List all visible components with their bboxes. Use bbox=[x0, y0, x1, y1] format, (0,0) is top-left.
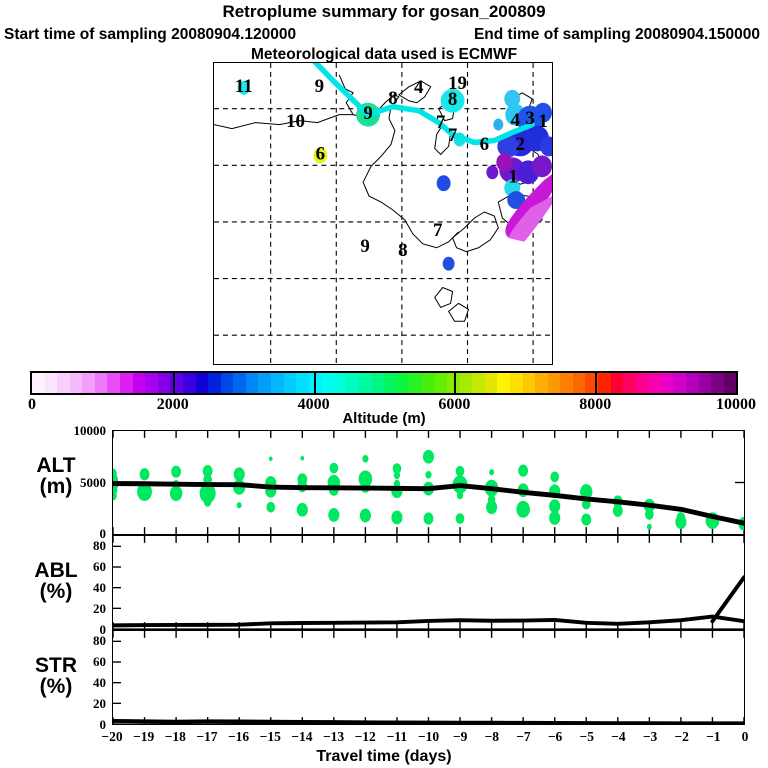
xtick-−19: −19 bbox=[133, 729, 154, 745]
particle-dot bbox=[425, 471, 431, 479]
colorbar-swatch-19 bbox=[271, 373, 284, 393]
svg-text:8: 8 bbox=[388, 88, 397, 109]
particle-dot bbox=[424, 512, 434, 524]
retroplume-map[interactable]: 11 9 10 9 8 4 19 8 6 7 7 6 4 3 1 2 1 9 8… bbox=[213, 62, 553, 365]
colorbar-swatch-4 bbox=[82, 373, 95, 393]
page-title: Retroplume summary for gosan_200809 bbox=[0, 2, 768, 22]
colorbar-swatch-31 bbox=[422, 373, 435, 393]
svg-text:8: 8 bbox=[398, 240, 407, 261]
particle-dot bbox=[391, 511, 402, 525]
svg-text:3: 3 bbox=[525, 108, 534, 129]
xtick-−10: −10 bbox=[418, 729, 439, 745]
str-ytick-20: 20 bbox=[46, 696, 106, 712]
svg-text:9: 9 bbox=[360, 236, 369, 257]
particle-dot bbox=[456, 466, 465, 477]
colorbar-swatch-1 bbox=[45, 373, 58, 393]
colorbar-swatch-49 bbox=[648, 373, 661, 393]
colorbar-swatch-23 bbox=[321, 373, 334, 393]
colorbar-swatch-36 bbox=[485, 373, 498, 393]
particle-dot bbox=[675, 515, 686, 529]
particle-dot bbox=[456, 513, 465, 524]
svg-text:11: 11 bbox=[235, 76, 253, 97]
colorbar-swatch-0 bbox=[32, 373, 45, 393]
colorbar-swatch-26 bbox=[359, 373, 372, 393]
start-time-label: Start time of sampling 20080904.120000 bbox=[4, 26, 296, 44]
particle-dot bbox=[204, 497, 211, 506]
colorbar-swatch-48 bbox=[636, 373, 649, 393]
colorbar-swatch-30 bbox=[409, 373, 422, 393]
xtick-−11: −11 bbox=[387, 729, 407, 745]
colorbar-swatch-42 bbox=[560, 373, 573, 393]
particle-dot bbox=[516, 501, 530, 518]
colorbar-swatch-41 bbox=[548, 373, 561, 393]
colorbar-swatch-53 bbox=[699, 373, 712, 393]
colorbar-swatch-38 bbox=[510, 373, 523, 393]
colorbar-swatch-55 bbox=[724, 373, 737, 393]
xtick-−15: −15 bbox=[260, 729, 281, 745]
colorbar-swatch-10 bbox=[158, 373, 171, 393]
colorbar-swatch-18 bbox=[258, 373, 271, 393]
str-plot bbox=[113, 631, 744, 724]
svg-text:6: 6 bbox=[480, 134, 489, 155]
alt-ytick-10000: 10000 bbox=[46, 423, 106, 439]
particle-dot bbox=[581, 513, 591, 525]
colorbar-swatch-25 bbox=[346, 373, 359, 393]
particle-dot bbox=[457, 492, 463, 500]
svg-text:7: 7 bbox=[436, 112, 445, 133]
altitude-plot bbox=[113, 431, 744, 534]
particle-dot bbox=[269, 457, 273, 462]
colorbar-swatch-33 bbox=[447, 373, 460, 393]
particle-dot bbox=[518, 465, 528, 477]
colorbar-swatch-47 bbox=[623, 373, 636, 393]
colorbar-tickmark-6000 bbox=[454, 371, 456, 395]
xtick-−2: −2 bbox=[674, 729, 688, 745]
particle-dot bbox=[328, 508, 339, 522]
svg-text:4: 4 bbox=[510, 110, 520, 131]
particle-dot bbox=[486, 500, 497, 514]
str-ytick-60: 60 bbox=[46, 654, 106, 670]
particle-dot bbox=[266, 502, 275, 513]
svg-text:8: 8 bbox=[448, 89, 457, 110]
colorbar-swatch-5 bbox=[95, 373, 108, 393]
colorbar-swatch-15 bbox=[221, 373, 234, 393]
alt-ytick-5000: 5000 bbox=[46, 475, 106, 491]
colorbar-swatch-37 bbox=[497, 373, 510, 393]
particle-dot bbox=[423, 450, 434, 464]
colorbar-swatch-9 bbox=[145, 373, 158, 393]
svg-text:10: 10 bbox=[286, 111, 305, 132]
colorbar-swatch-52 bbox=[686, 373, 699, 393]
xtick-−8: −8 bbox=[485, 729, 499, 745]
trajectory-line bbox=[306, 63, 532, 142]
colorbar-swatch-40 bbox=[535, 373, 548, 393]
xaxis-tick-labels: −20−19−18−17−16−15−14−13−12−11−10−9−8−7−… bbox=[0, 729, 768, 747]
str-ytick-80: 80 bbox=[46, 633, 106, 649]
abl-timeseries-panel[interactable] bbox=[112, 535, 745, 630]
particle-dot bbox=[645, 509, 654, 520]
str-line bbox=[113, 721, 744, 723]
particle-dot bbox=[234, 467, 245, 481]
particle-dot bbox=[140, 468, 150, 480]
colorbar-swatch-32 bbox=[435, 373, 448, 393]
xtick-−5: −5 bbox=[580, 729, 594, 745]
colorbar-swatch-54 bbox=[711, 373, 724, 393]
xtick-−12: −12 bbox=[355, 729, 376, 745]
particle-dot bbox=[297, 503, 308, 517]
svg-text:2: 2 bbox=[515, 134, 524, 155]
svg-text:7: 7 bbox=[433, 220, 442, 241]
colorbar-tickmark-2000 bbox=[173, 371, 175, 395]
abl-ytick-20: 20 bbox=[46, 601, 106, 617]
colorbar-swatch-6 bbox=[107, 373, 120, 393]
colorbar-swatch-8 bbox=[133, 373, 146, 393]
xtick-−16: −16 bbox=[228, 729, 249, 745]
colorbar-swatch-50 bbox=[661, 373, 674, 393]
svg-text:4: 4 bbox=[414, 77, 424, 98]
particle-dot bbox=[550, 471, 559, 482]
colorbar-swatch-7 bbox=[120, 373, 133, 393]
end-time-label: End time of sampling 20080904.150000 bbox=[474, 26, 760, 44]
particle-dot bbox=[330, 463, 339, 474]
particle-dot bbox=[394, 471, 400, 479]
colorbar-swatch-3 bbox=[70, 373, 83, 393]
xtick-−14: −14 bbox=[291, 729, 312, 745]
colorbar-swatch-35 bbox=[472, 373, 485, 393]
svg-text:6: 6 bbox=[316, 144, 325, 165]
colorbar-swatch-2 bbox=[57, 373, 70, 393]
colorbar-swatch-13 bbox=[196, 373, 209, 393]
svg-text:1: 1 bbox=[538, 111, 547, 132]
xtick-−1: −1 bbox=[706, 729, 720, 745]
particle-dot bbox=[360, 509, 371, 523]
particle-dot bbox=[300, 456, 304, 461]
particle-dot bbox=[362, 455, 368, 463]
svg-text:9: 9 bbox=[315, 76, 324, 97]
str-ytick-40: 40 bbox=[46, 675, 106, 691]
colorbar-swatch-45 bbox=[598, 373, 611, 393]
particle-dot bbox=[613, 505, 623, 517]
particle-dot bbox=[549, 511, 560, 525]
xtick-−6: −6 bbox=[548, 729, 562, 745]
alt-label-line1: ALT bbox=[6, 455, 106, 476]
colorbar-swatch-29 bbox=[397, 373, 410, 393]
abl-spike bbox=[712, 577, 744, 621]
colorbar-tickmark-8000 bbox=[595, 371, 597, 395]
particle-dot bbox=[549, 499, 560, 513]
colorbar-swatch-28 bbox=[384, 373, 397, 393]
xtick-−7: −7 bbox=[516, 729, 530, 745]
colorbar-swatch-34 bbox=[460, 373, 473, 393]
abl-ytick-40: 40 bbox=[46, 580, 106, 596]
colorbar-swatch-20 bbox=[284, 373, 297, 393]
colorbar-swatch-43 bbox=[573, 373, 586, 393]
colorbar-swatch-21 bbox=[296, 373, 309, 393]
svg-text:9: 9 bbox=[363, 103, 372, 124]
colorbar-swatch-46 bbox=[611, 373, 624, 393]
colorbar-swatch-14 bbox=[208, 373, 221, 393]
xtick-−17: −17 bbox=[196, 729, 217, 745]
particle-dot bbox=[170, 486, 182, 501]
colorbar-swatch-12 bbox=[183, 373, 196, 393]
particle-dot bbox=[647, 524, 652, 530]
xtick-−3: −3 bbox=[643, 729, 657, 745]
colorbar-swatch-16 bbox=[233, 373, 246, 393]
xtick-−18: −18 bbox=[165, 729, 186, 745]
altitude-timeseries-panel[interactable] bbox=[112, 430, 745, 535]
colorbar-tickmark-4000 bbox=[314, 371, 316, 395]
colorbar-swatch-24 bbox=[334, 373, 347, 393]
abl-ytick-60: 60 bbox=[46, 559, 106, 575]
xtick-0: 0 bbox=[742, 729, 749, 745]
particle-dot bbox=[237, 502, 242, 508]
altitude-colorbar bbox=[30, 371, 738, 395]
abl-ytick-80: 80 bbox=[46, 538, 106, 554]
map-canvas: 11 9 10 9 8 4 19 8 6 7 7 6 4 3 1 2 1 9 8… bbox=[214, 63, 552, 364]
xtick-−9: −9 bbox=[453, 729, 467, 745]
svg-text:1: 1 bbox=[509, 167, 518, 188]
particle-dot bbox=[489, 469, 494, 475]
str-timeseries-panel[interactable] bbox=[112, 630, 745, 725]
xaxis-title: Travel time (days) bbox=[0, 748, 768, 766]
xtick-−13: −13 bbox=[323, 729, 344, 745]
svg-text:7: 7 bbox=[448, 125, 457, 146]
xtick-−4: −4 bbox=[611, 729, 625, 745]
particle-dot bbox=[171, 466, 181, 478]
colorbar-swatch-27 bbox=[372, 373, 385, 393]
colorbar-swatch-17 bbox=[246, 373, 259, 393]
colorbar-swatch-39 bbox=[523, 373, 536, 393]
colorbar-axis-label: Altitude (m) bbox=[0, 410, 768, 427]
abl-plot bbox=[113, 536, 744, 629]
xtick-−20: −20 bbox=[101, 729, 122, 745]
colorbar-swatch-51 bbox=[673, 373, 686, 393]
